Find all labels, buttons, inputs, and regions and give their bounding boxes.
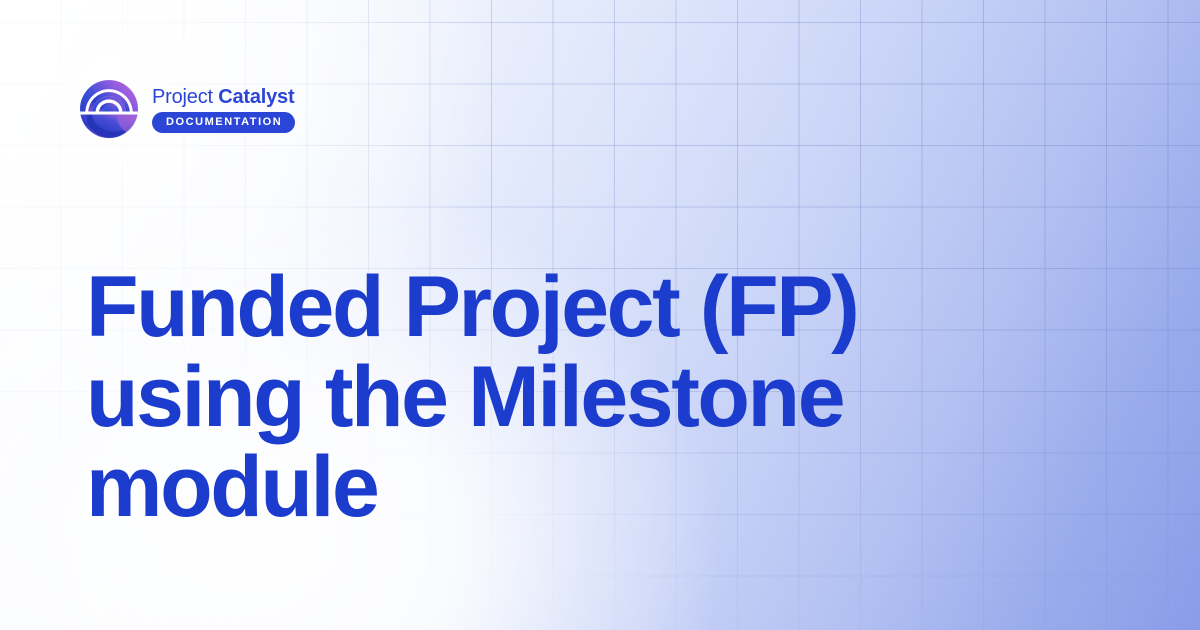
brand-text-column: Project Catalyst DOCUMENTATION <box>152 86 295 133</box>
project-catalyst-logo-icon <box>78 78 140 140</box>
brand-logo-lockup[interactable]: Project Catalyst DOCUMENTATION <box>78 78 295 140</box>
page-title: Funded Project (FP) using the Milestone … <box>86 262 1066 532</box>
brand-name: Project Catalyst <box>152 86 295 108</box>
brand-name-bold: Catalyst <box>218 86 294 108</box>
documentation-badge: DOCUMENTATION <box>152 112 295 133</box>
brand-name-light: Project <box>152 86 213 108</box>
share-banner-canvas: Project Catalyst DOCUMENTATION Funded Pr… <box>0 0 1200 630</box>
